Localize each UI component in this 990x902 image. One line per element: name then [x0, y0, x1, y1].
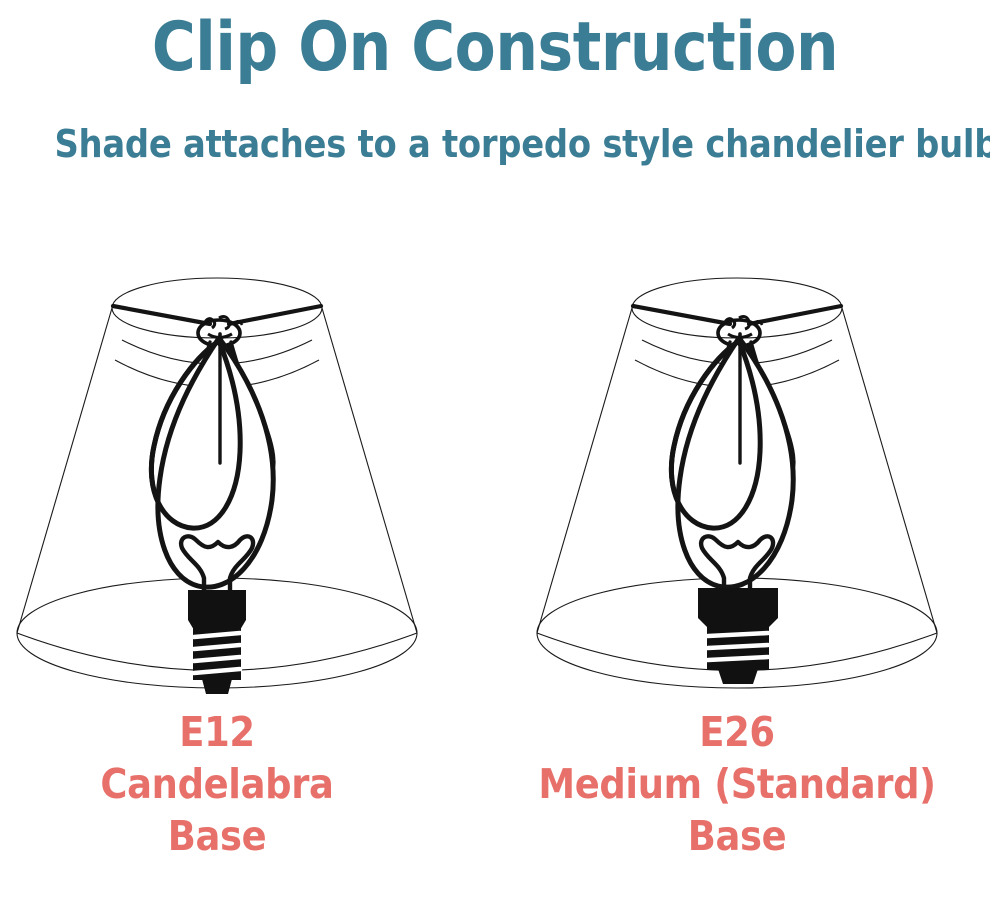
shade-top-rim [632, 278, 842, 338]
page-subtitle: Shade attaches to a torpedo style chande… [54, 120, 935, 168]
illustration-e12 [0, 238, 452, 708]
shade-left-side [17, 308, 112, 633]
bulb-base-e12 [188, 590, 246, 694]
bulb-base-e26 [698, 588, 778, 684]
caption-e26-name: Medium (Standard) [526, 758, 949, 810]
clip-top-wire-right [229, 306, 321, 324]
poster-canvas: Clip On Construction Shade attaches to a… [0, 0, 990, 902]
caption-e26: E26 Medium (Standard) Base [502, 706, 972, 862]
clip-top-wire-left [633, 306, 730, 324]
illustration-e26 [502, 238, 972, 708]
clip-top-wire-left [113, 306, 210, 324]
caption-e26-base-word: Base [526, 810, 949, 862]
caption-e12-name: Candelabra [6, 758, 429, 810]
caption-e12: E12 Candelabra Base [0, 706, 452, 862]
shade-top-rim [112, 278, 322, 338]
caption-e12-base-word: Base [6, 810, 429, 862]
shade-right-side [322, 308, 417, 633]
lamp-shade-e26-drawing [502, 238, 972, 708]
caption-e26-code: E26 [526, 706, 949, 758]
bulb-envelope [158, 338, 273, 587]
caption-e12-code: E12 [6, 706, 429, 758]
shade-right-side [842, 308, 937, 633]
clip-top-wire-right [749, 306, 841, 324]
lamp-shade-e12-drawing [0, 238, 452, 708]
bulb-envelope [678, 338, 793, 587]
page-title: Clip On Construction [59, 8, 930, 88]
shade-left-side [537, 308, 632, 633]
